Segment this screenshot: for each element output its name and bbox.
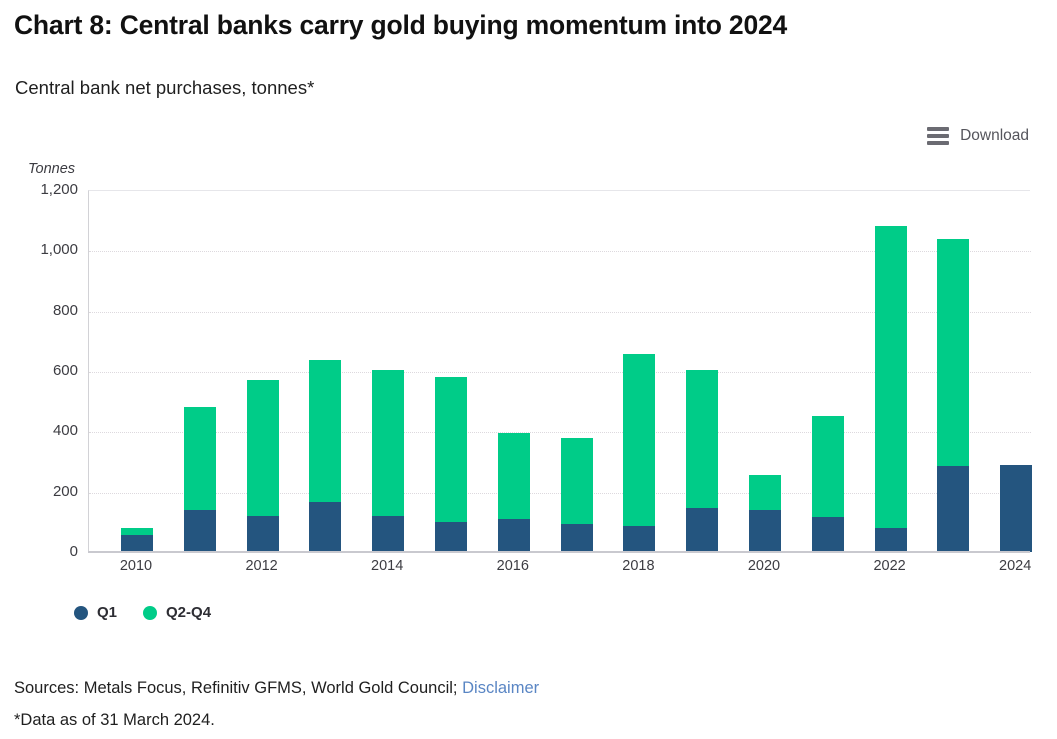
legend-item-q2q4[interactable]: Q2-Q4 bbox=[143, 604, 211, 621]
y-axis-tick-label: 800 bbox=[8, 302, 78, 319]
bar-group[interactable] bbox=[498, 190, 530, 552]
bar-segment-q2q4[interactable] bbox=[749, 475, 781, 510]
y-axis-tick-label: 0 bbox=[8, 543, 78, 560]
bar-group[interactable] bbox=[309, 190, 341, 552]
bar-segment-q1[interactable] bbox=[247, 516, 279, 552]
bar-segment-q2q4[interactable] bbox=[686, 370, 718, 509]
chart-page: Chart 8: Central banks carry gold buying… bbox=[0, 0, 1057, 739]
bar-group[interactable] bbox=[561, 190, 593, 552]
x-axis-tick-label: 2024 bbox=[999, 558, 1031, 574]
bar-segment-q1[interactable] bbox=[1000, 465, 1032, 552]
bar-group[interactable] bbox=[875, 190, 907, 552]
bar-segment-q2q4[interactable] bbox=[184, 407, 216, 510]
x-axis-tick-label: 2016 bbox=[497, 558, 529, 574]
bar-segment-q1[interactable] bbox=[937, 466, 969, 552]
bar-segment-q1[interactable] bbox=[623, 526, 655, 552]
bar-segment-q1[interactable] bbox=[372, 516, 404, 552]
sources-text: Sources: Metals Focus, Refinitiv GFMS, W… bbox=[14, 679, 458, 697]
bar-segment-q2q4[interactable] bbox=[435, 377, 467, 522]
y-axis-unit-label: Tonnes bbox=[28, 161, 75, 177]
x-axis-tick-label: 2012 bbox=[245, 558, 277, 574]
bar-segment-q1[interactable] bbox=[309, 502, 341, 552]
legend-label-q2q4: Q2-Q4 bbox=[166, 604, 211, 621]
bar-group[interactable] bbox=[184, 190, 216, 552]
x-axis-tick-label: 2010 bbox=[120, 558, 152, 574]
bar-segment-q1[interactable] bbox=[498, 519, 530, 552]
legend-swatch-q2q4 bbox=[143, 606, 157, 620]
x-axis-tick-label: 2022 bbox=[873, 558, 905, 574]
bar-segment-q2q4[interactable] bbox=[875, 226, 907, 528]
y-axis-tick-label: 600 bbox=[8, 362, 78, 379]
bar-segment-q1[interactable] bbox=[686, 508, 718, 552]
bar-segment-q2q4[interactable] bbox=[121, 528, 153, 535]
chart-plot: Tonnes 02004006008001,0001,200 201020122… bbox=[0, 0, 1057, 739]
chart-legend: Q1 Q2-Q4 bbox=[74, 604, 211, 621]
legend-swatch-q1 bbox=[74, 606, 88, 620]
bar-segment-q2q4[interactable] bbox=[623, 354, 655, 527]
bar-group[interactable] bbox=[623, 190, 655, 552]
bar-segment-q1[interactable] bbox=[812, 517, 844, 552]
bar-segment-q1[interactable] bbox=[121, 535, 153, 552]
x-axis-tick-label: 2018 bbox=[622, 558, 654, 574]
bar-segment-q2q4[interactable] bbox=[309, 360, 341, 501]
y-axis-tick-label: 1,200 bbox=[8, 181, 78, 198]
bar-segment-q1[interactable] bbox=[875, 528, 907, 552]
bar-segment-q2q4[interactable] bbox=[561, 438, 593, 524]
sources-line: Sources: Metals Focus, Refinitiv GFMS, W… bbox=[14, 679, 539, 698]
bar-group[interactable] bbox=[749, 190, 781, 552]
bar-segment-q1[interactable] bbox=[561, 524, 593, 552]
bar-group[interactable] bbox=[121, 190, 153, 552]
legend-item-q1[interactable]: Q1 bbox=[74, 604, 117, 621]
x-axis-line bbox=[88, 551, 1030, 553]
bar-segment-q1[interactable] bbox=[184, 510, 216, 552]
y-axis-tick-label: 1,000 bbox=[8, 241, 78, 258]
bar-group[interactable] bbox=[812, 190, 844, 552]
x-axis-tick-label: 2020 bbox=[748, 558, 780, 574]
bar-group[interactable] bbox=[435, 190, 467, 552]
bar-segment-q1[interactable] bbox=[435, 522, 467, 552]
footnote: *Data as of 31 March 2024. bbox=[14, 711, 215, 730]
bar-segment-q2q4[interactable] bbox=[247, 380, 279, 516]
plot-area bbox=[88, 190, 1030, 552]
disclaimer-link[interactable]: Disclaimer bbox=[462, 679, 539, 697]
bar-segment-q1[interactable] bbox=[749, 510, 781, 552]
y-axis-tick-label: 400 bbox=[8, 422, 78, 439]
bar-group[interactable] bbox=[247, 190, 279, 552]
x-axis-tick-label: 2014 bbox=[371, 558, 403, 574]
bar-segment-q2q4[interactable] bbox=[372, 370, 404, 516]
bar-group[interactable] bbox=[1000, 190, 1032, 552]
bar-segment-q2q4[interactable] bbox=[812, 416, 844, 517]
bar-segment-q2q4[interactable] bbox=[498, 433, 530, 519]
bar-group[interactable] bbox=[686, 190, 718, 552]
legend-label-q1: Q1 bbox=[97, 604, 117, 621]
bar-group[interactable] bbox=[372, 190, 404, 552]
bar-segment-q2q4[interactable] bbox=[937, 239, 969, 466]
bar-group[interactable] bbox=[937, 190, 969, 552]
y-axis-tick-label: 200 bbox=[8, 483, 78, 500]
